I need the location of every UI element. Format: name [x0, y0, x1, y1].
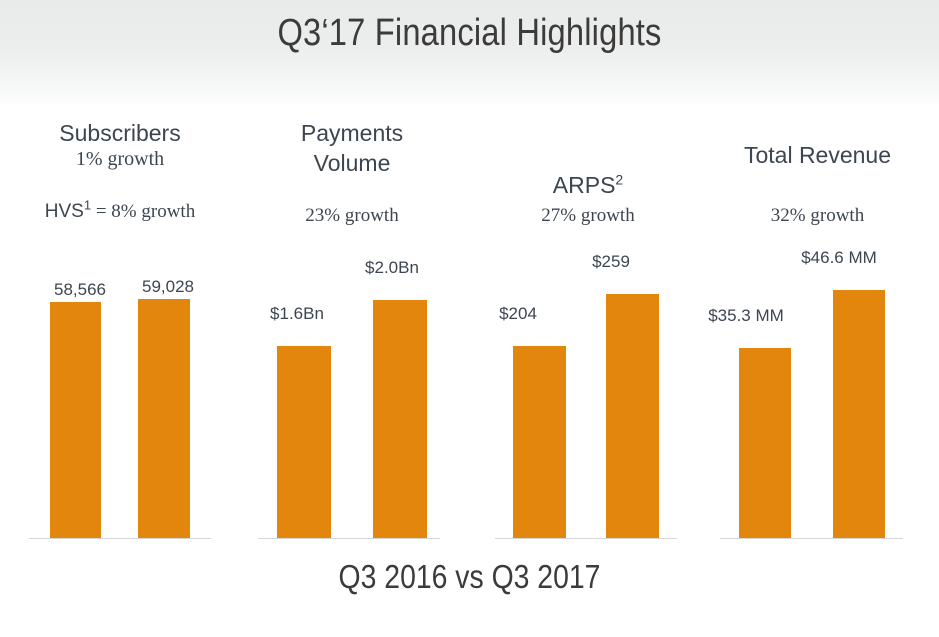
panel-heading-subscribers: Subscribers [10, 118, 230, 148]
bar-value-label: $46.6 MM [784, 248, 894, 268]
chart-panel-arps: ARPS2 27% growth $204 $259 [478, 118, 698, 548]
bar-value-label: $35.3 MM [691, 306, 801, 326]
slide-canvas: Q3‘17 Financial Highlights Subscribers 1… [0, 0, 939, 637]
bar-2016-total-revenue [739, 348, 791, 538]
panel-note-text: 23% growth [305, 205, 398, 226]
panel-axis-line [495, 538, 677, 539]
bar-value-label: $204 [463, 304, 573, 324]
panel-heading-text: ARPS [553, 172, 616, 198]
panel-note-prefix: HVS [45, 201, 84, 222]
panel-axis-line [258, 538, 440, 539]
panel-note-superscript: 1 [84, 198, 91, 213]
panel-heading-superscript: 2 [615, 171, 623, 187]
chart-panel-subscribers: Subscribers 1% growth HVS1 = 8% growth 5… [10, 118, 230, 548]
panel-axis-line [29, 538, 211, 539]
panel-note-total-revenue: 32% growth [705, 205, 930, 227]
bar-2017-total-revenue [833, 290, 885, 538]
chart-panel-payments-volume: Payments Volume 23% growth $1.6Bn $2.0Bn [242, 118, 462, 548]
bar-value-label: $259 [556, 252, 666, 272]
panel-heading-payments-volume: Payments Volume [242, 118, 462, 178]
bar-2017-subscribers [138, 299, 190, 538]
panel-axis-line [720, 538, 903, 539]
panel-note-payments-volume: 23% growth [242, 205, 462, 227]
bar-2017-payments-volume [373, 300, 427, 538]
panel-note-arps: 27% growth [478, 205, 698, 227]
bar-2017-arps [606, 294, 659, 538]
bar-2016-arps [513, 346, 566, 538]
chart-panel-total-revenue: Total Revenue 32% growth $35.3 MM $46.6 … [705, 118, 930, 548]
bar-value-label: 59,028 [113, 277, 223, 297]
panel-note-subscribers: HVS1 = 8% growth [10, 201, 230, 223]
bar-2016-payments-volume [277, 346, 331, 538]
panel-note-text: 27% growth [541, 205, 634, 226]
panel-heading-arps: ARPS2 [478, 140, 698, 200]
panel-heading-total-revenue: Total Revenue [705, 140, 930, 170]
bar-value-label: $1.6Bn [242, 304, 352, 324]
panel-note-suffix: = 8% growth [91, 201, 195, 222]
bar-2016-subscribers [50, 302, 101, 538]
bar-chart: Subscribers 1% growth HVS1 = 8% growth 5… [0, 0, 939, 637]
chart-caption: Q3 2016 vs Q3 2017 [66, 558, 874, 596]
panel-subheading-subscribers: 1% growth [10, 148, 230, 171]
panel-note-text: 32% growth [771, 205, 864, 226]
bar-value-label: $2.0Bn [337, 258, 447, 278]
